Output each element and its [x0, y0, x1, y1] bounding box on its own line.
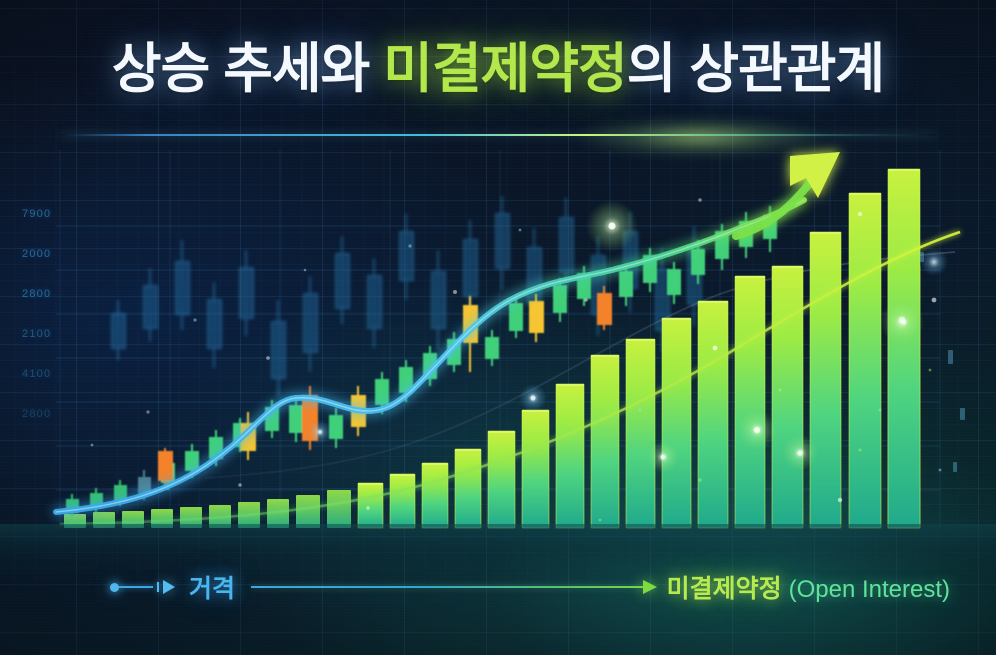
- title-divider: [60, 134, 936, 136]
- chart-illustration: 7900 2000 2800 2100 4100 2800 상승 추세와 미결제…: [0, 0, 996, 655]
- price-arrow-icon: [163, 580, 175, 594]
- title-suffix: 의 상관관계: [627, 39, 884, 99]
- legend-connector-line: [251, 586, 655, 588]
- legend-arrow-right-icon: [643, 580, 657, 594]
- title-container: 상승 추세와 미결제약정의 상관관계: [0, 24, 996, 103]
- title-prefix: 상승 추세와: [112, 39, 383, 99]
- y-tick-3: 2100: [22, 328, 82, 368]
- legend-label-open-interest: 미결제약정 (Open Interest): [667, 569, 950, 605]
- legend-oi-sub: (Open Interest): [789, 576, 950, 603]
- title-highlight: 미결제약정: [383, 39, 626, 99]
- price-dot-icon: [110, 583, 119, 592]
- legend-label-price: 거격: [189, 569, 235, 605]
- page-title: 상승 추세와 미결제약정의 상관관계: [112, 24, 884, 103]
- y-axis-labels: 7900 2000 2800 2100 4100 2800: [22, 208, 82, 448]
- price-line-segment-icon: [119, 586, 153, 588]
- chart-legend: 거격 미결제약정 (Open Interest): [110, 566, 950, 608]
- y-tick-0: 7900: [22, 208, 82, 248]
- price-tick-icon: [157, 582, 159, 592]
- y-tick-4: 4100: [22, 368, 82, 408]
- y-tick-1: 2000: [22, 248, 82, 288]
- y-tick-2: 2800: [22, 288, 82, 328]
- legend-oi-main: 미결제약정: [667, 575, 782, 603]
- y-tick-5: 2800: [22, 408, 82, 448]
